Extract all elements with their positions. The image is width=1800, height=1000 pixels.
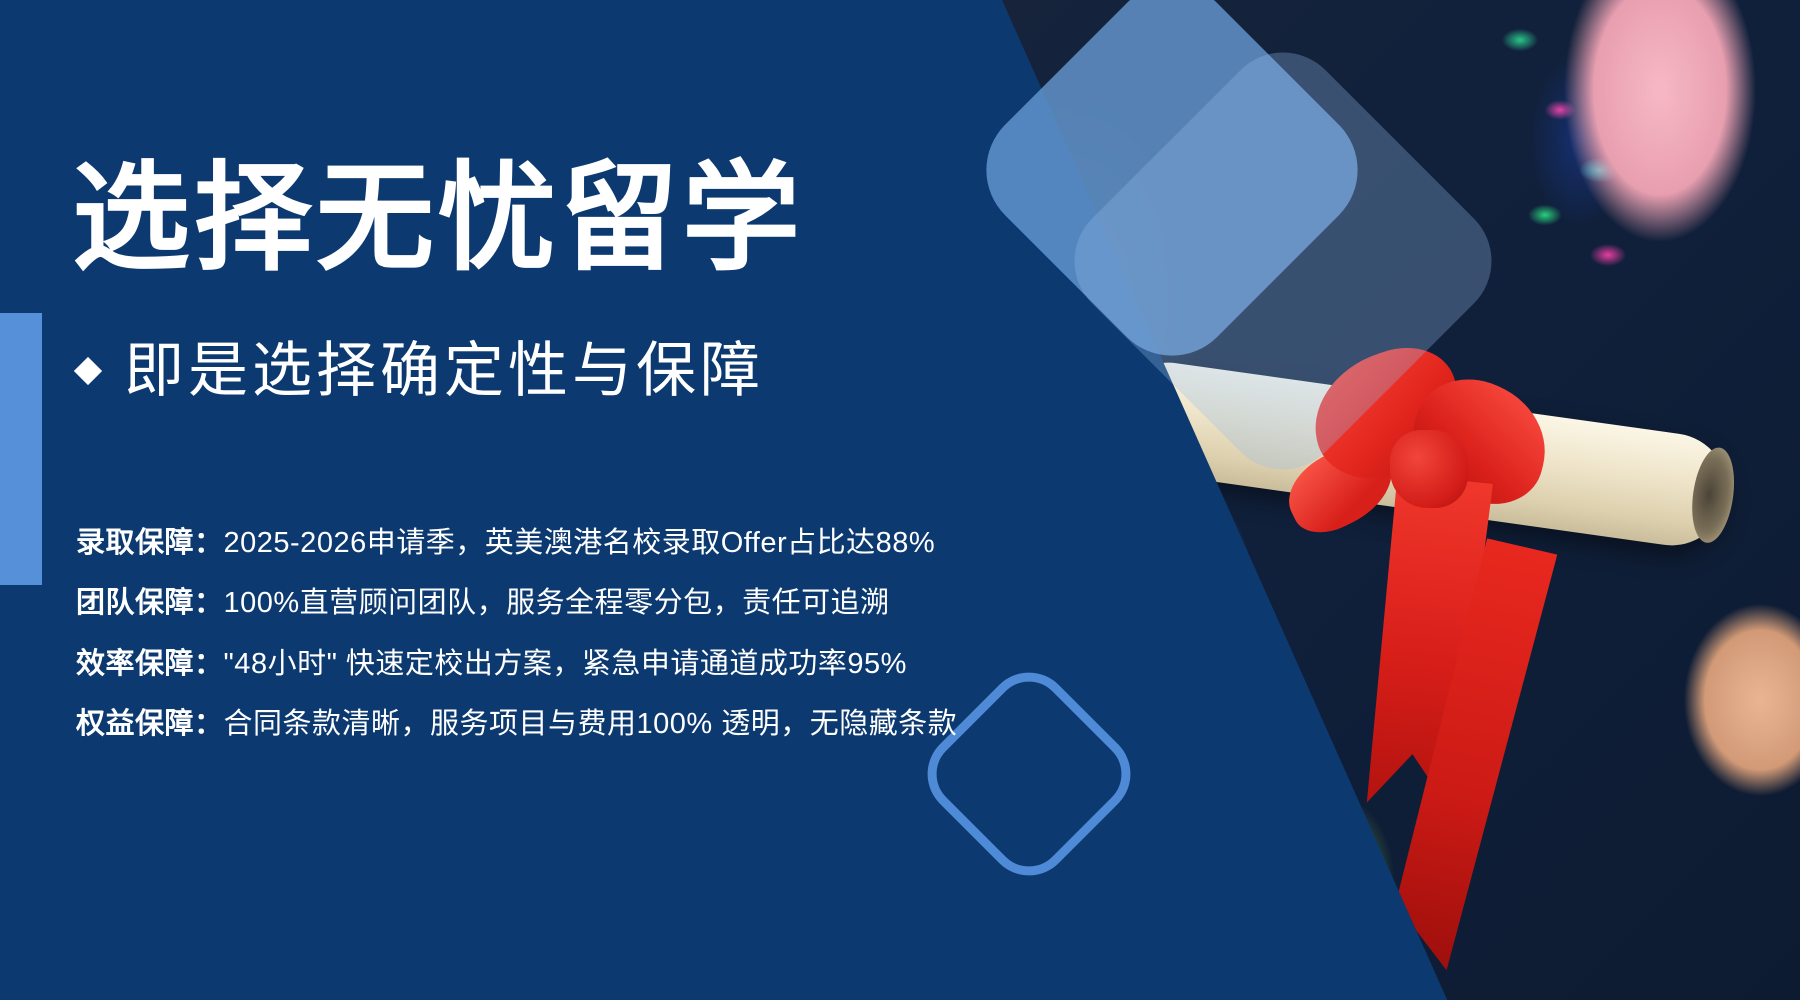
text-content: 选择无忧留学 即是选择确定性与保障 录取保障：2025-2026申请季，英美澳港… (0, 0, 1100, 1000)
feature-item-efficiency: 效率保障："48小时" 快速定校出方案，紧急申请通道成功率95% (76, 646, 957, 682)
feature-text: 合同条款清晰，服务项目与费用100% 透明，无隐藏条款 (224, 708, 958, 740)
feature-item-admission: 录取保障：2025-2026申请季，英美澳港名校录取Offer占比达88% (76, 525, 957, 561)
promo-banner: 选择无忧留学 即是选择确定性与保障 录取保障：2025-2026申请季，英美澳港… (0, 0, 1800, 1000)
feature-text: "48小时" 快速定校出方案，紧急申请通道成功率95% (224, 648, 907, 680)
feature-text: 100%直营顾问团队，服务全程零分包，责任可追溯 (224, 587, 890, 619)
feature-label: 效率保障： (76, 648, 224, 680)
diamond-bullet-icon (74, 357, 102, 385)
subheadline: 即是选择确定性与保障 (78, 338, 764, 404)
feature-text: 2025-2026申请季，英美澳港名校录取Offer占比达88% (224, 527, 936, 559)
ribbon-knot-icon (1390, 430, 1468, 508)
headline: 选择无忧留学 (72, 156, 804, 283)
feature-item-team: 团队保障：100%直营顾问团队，服务全程零分包，责任可追溯 (76, 585, 957, 621)
feature-list: 录取保障：2025-2026申请季，英美澳港名校录取Offer占比达88% 团队… (76, 525, 957, 742)
feature-item-rights: 权益保障：合同条款清晰，服务项目与费用100% 透明，无隐藏条款 (76, 706, 957, 742)
feature-label: 团队保障： (76, 587, 224, 619)
feature-label: 权益保障： (76, 708, 224, 740)
subheadline-label: 即是选择确定性与保障 (124, 338, 764, 404)
feature-label: 录取保障： (76, 527, 224, 559)
